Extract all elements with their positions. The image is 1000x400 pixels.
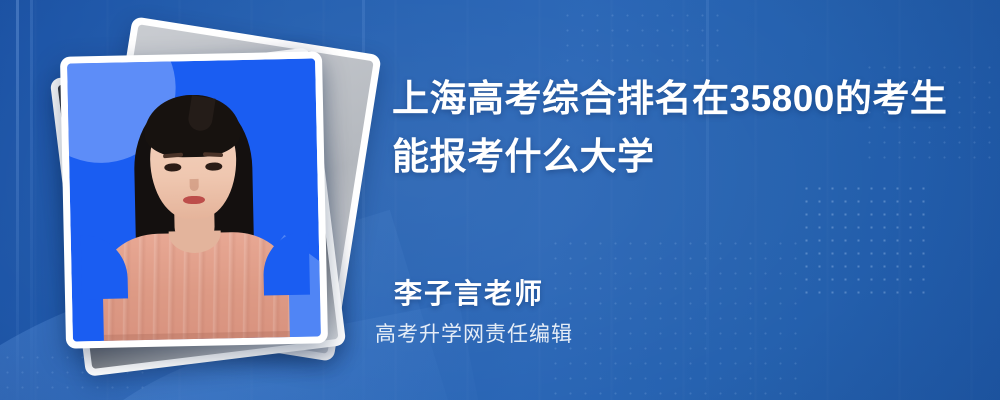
portrait-photo — [67, 58, 321, 341]
portrait-figure — [67, 58, 321, 341]
portrait-photo-card — [60, 51, 328, 348]
author-role: 高考升学网责任编辑 — [375, 318, 573, 348]
article-cover-banner: 上海高考综合排名在35800的考生 能报考什么大学 李子言老师 高考升学网责任编… — [0, 0, 1000, 400]
portrait-photo-backdrop — [67, 58, 321, 341]
photo-card-stack — [45, 28, 345, 368]
portrait-eye-left — [164, 163, 181, 171]
author-name: 李子言老师 — [394, 272, 544, 312]
portrait-eye-right — [205, 162, 222, 170]
portrait-nose — [190, 179, 199, 191]
portrait-mouth — [183, 196, 205, 204]
banner-text-block: 上海高考综合排名在35800的考生 能报考什么大学 李子言老师 高考升学网责任编… — [392, 0, 972, 400]
portrait-shoulder-cut-right — [263, 231, 310, 296]
banner-title: 上海高考综合排名在35800的考生 能报考什么大学 — [392, 70, 952, 186]
